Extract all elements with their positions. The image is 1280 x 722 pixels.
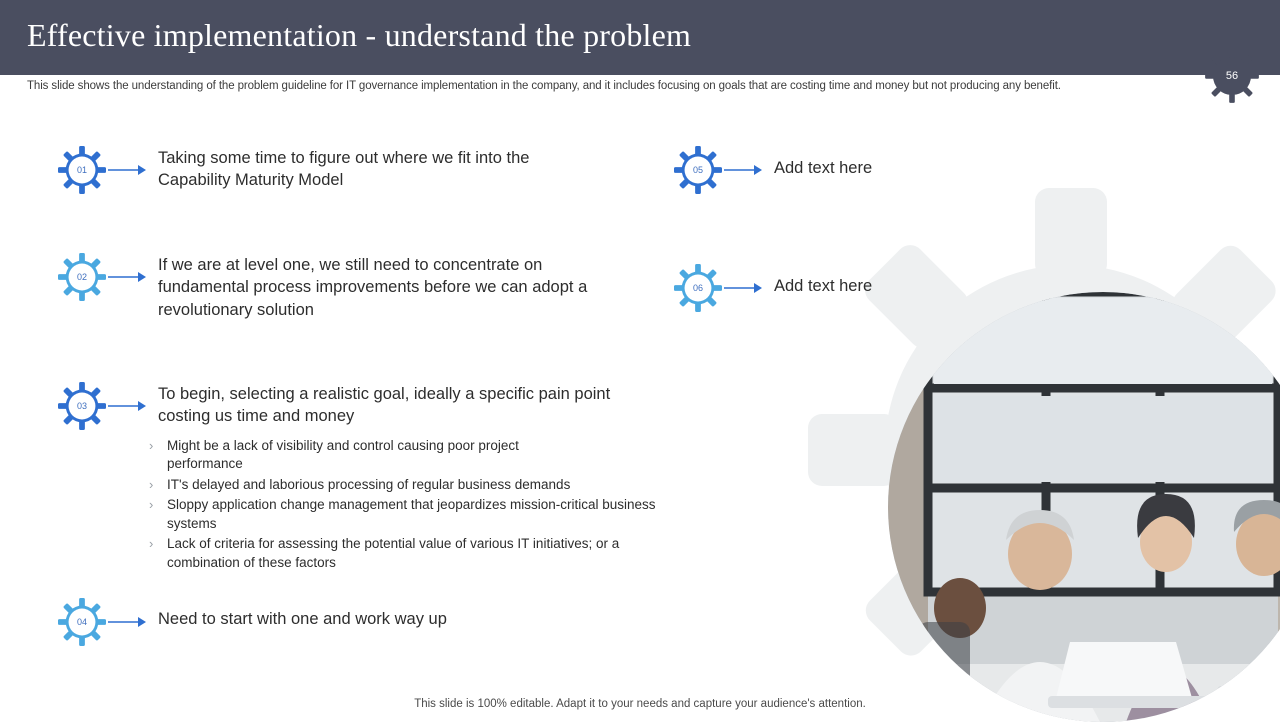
sub-item-label: Sloppy application change management tha…: [167, 496, 657, 533]
item-number: 06: [674, 264, 722, 312]
page-number-badge: 56: [1204, 48, 1260, 104]
item-label: Taking some time to figure out where we …: [158, 147, 588, 192]
list-item: › Sloppy application change management t…: [149, 496, 689, 533]
arrow-right-icon: [724, 164, 762, 176]
arrow-right-icon: [108, 271, 146, 283]
item-label: If we are at level one, we still need to…: [158, 254, 603, 321]
list-item-04: 04 Need to start with one and work way u…: [58, 598, 678, 646]
item-number: 04: [58, 598, 106, 646]
team-photo: [888, 292, 1280, 722]
sub-item-label: IT's delayed and laborious processing of…: [167, 476, 689, 494]
page-title: Effective implementation - understand th…: [27, 17, 691, 54]
sub-item-label: Lack of criteria for assessing the poten…: [167, 535, 689, 572]
item-number: 01: [58, 146, 106, 194]
item-number: 03: [58, 382, 106, 430]
item-number: 05: [674, 146, 722, 194]
footer-note: This slide is 100% editable. Adapt it to…: [0, 698, 1280, 710]
chevron-right-icon: ›: [149, 535, 167, 572]
item-number: 02: [58, 253, 106, 301]
item-label: Add text here: [774, 275, 872, 297]
arrow-right-icon: [108, 400, 146, 412]
arrow-right-icon: [724, 282, 762, 294]
slide-description: This slide shows the understanding of th…: [27, 80, 1177, 92]
chevron-right-icon: ›: [149, 496, 167, 533]
gear-icon: 06: [674, 264, 722, 312]
list-item-05: 05 Add text here: [674, 146, 974, 194]
chevron-right-icon: ›: [149, 437, 167, 474]
item-label: Add text here: [774, 157, 872, 179]
list-item-03: 03 To begin, selecting a realistic goal,…: [58, 382, 678, 430]
chevron-right-icon: ›: [149, 476, 167, 494]
list-item-06: 06 Add text here: [674, 264, 974, 312]
gear-icon: 03: [58, 382, 106, 430]
gear-icon: 05: [674, 146, 722, 194]
gear-icon: 02: [58, 253, 106, 301]
arrow-right-icon: [108, 164, 146, 176]
list-item-01: 01 Taking some time to figure out where …: [58, 146, 658, 194]
page-number: 56: [1204, 48, 1260, 104]
sub-bullet-list: › Might be a lack of visibility and cont…: [149, 437, 689, 574]
gear-icon: 01: [58, 146, 106, 194]
item-label: Need to start with one and work way up: [158, 608, 558, 630]
arrow-right-icon: [108, 616, 146, 628]
gear-icon: 04: [58, 598, 106, 646]
photo-illustration: [888, 292, 1280, 722]
list-item-02: 02 If we are at level one, we still need…: [58, 253, 678, 321]
sub-item-label: Might be a lack of visibility and contro…: [167, 437, 537, 474]
list-item: › Lack of criteria for assessing the pot…: [149, 535, 689, 572]
list-item: › IT's delayed and laborious processing …: [149, 476, 689, 494]
list-item: › Might be a lack of visibility and cont…: [149, 437, 689, 474]
item-label: To begin, selecting a realistic goal, id…: [158, 383, 628, 428]
